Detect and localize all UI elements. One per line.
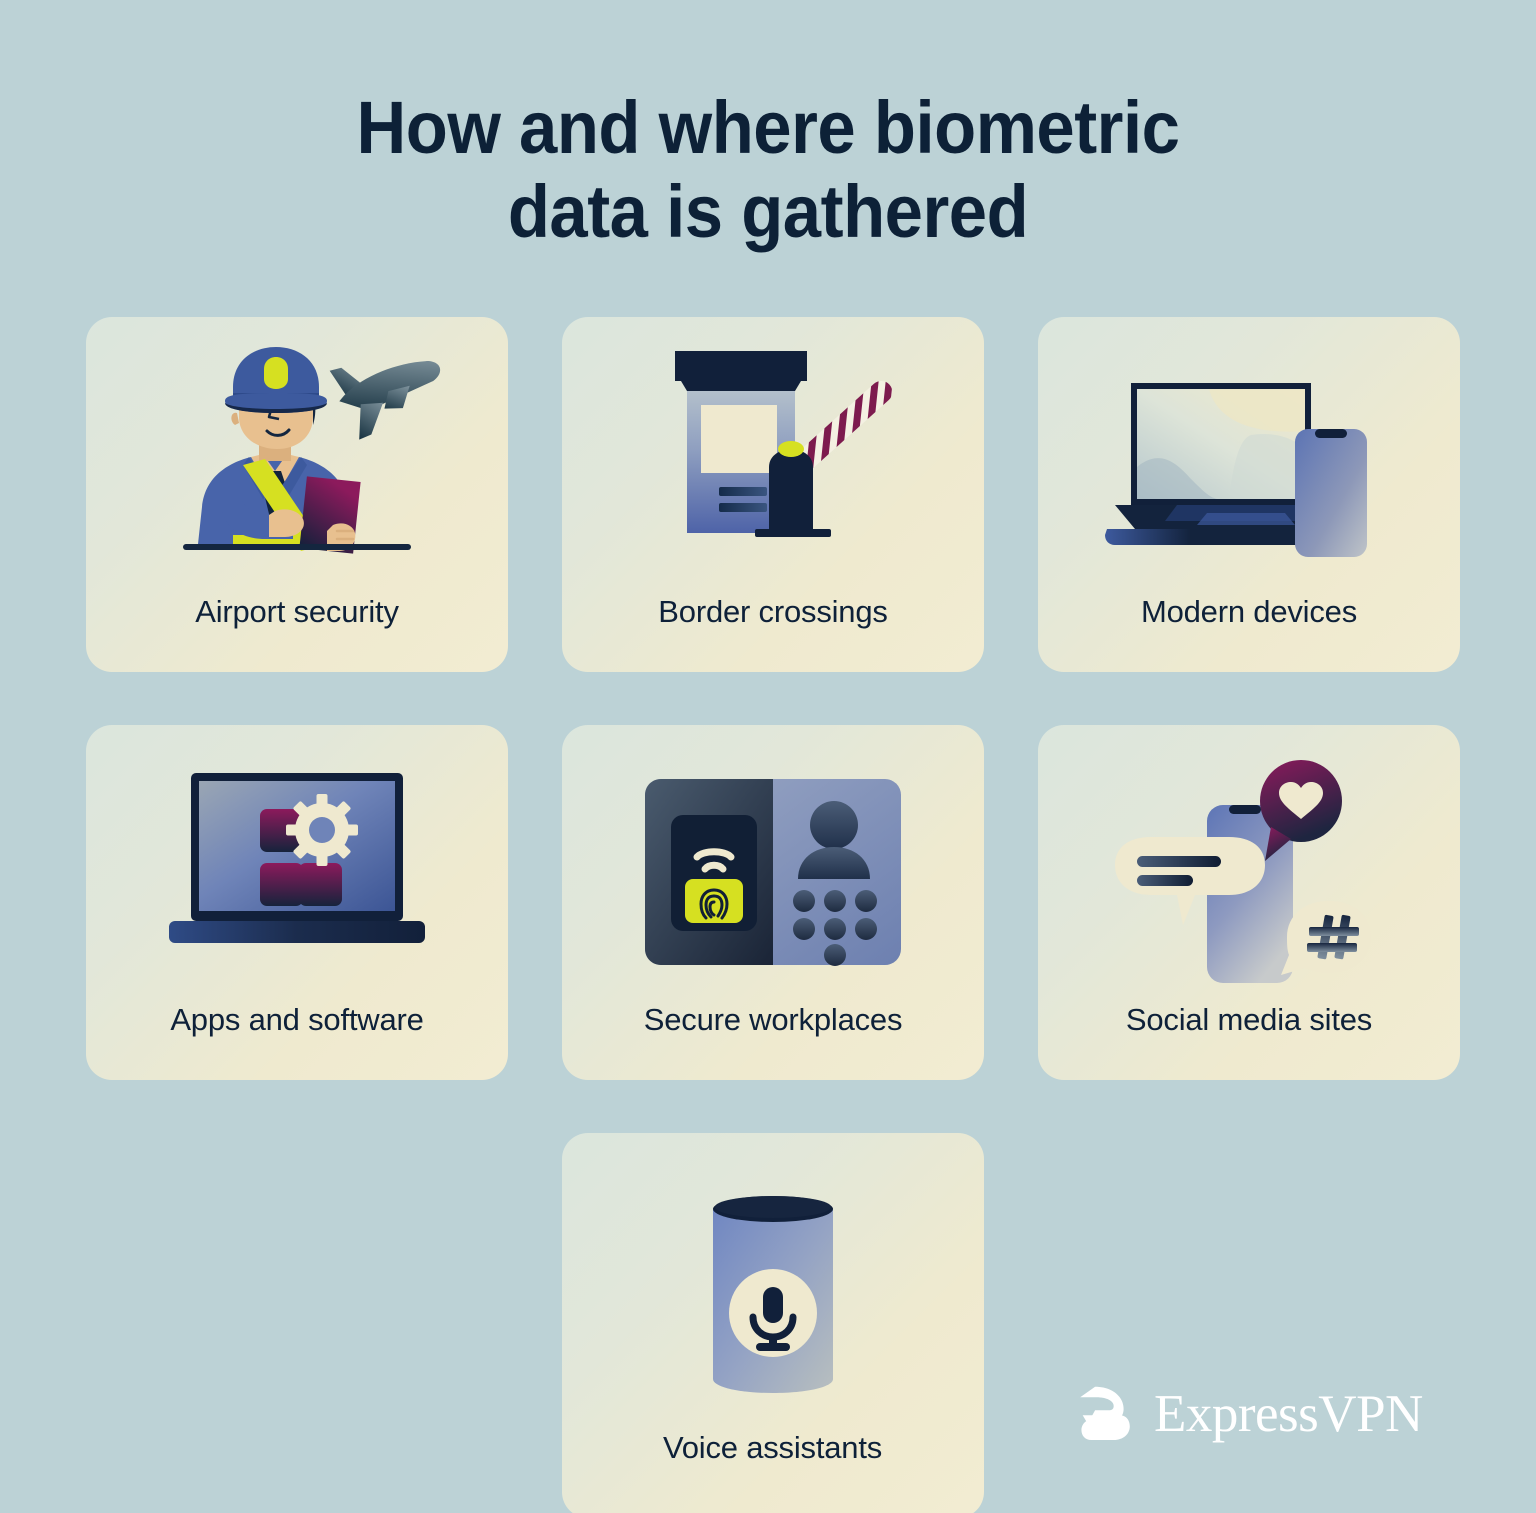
- cards-grid: Airport security: [86, 317, 1459, 1513]
- cards-row-1: Airport security: [86, 317, 1459, 672]
- card-secure-workplaces[interactable]: Secure workplaces: [562, 725, 984, 1080]
- smart-speaker-microphone-icon: [562, 1173, 984, 1423]
- cards-row-2: Apps and software: [86, 725, 1459, 1080]
- card-label: Secure workplaces: [562, 1002, 984, 1038]
- expressvpn-wordmark: ExpressVPN: [1154, 1388, 1423, 1441]
- card-label: Voice assistants: [562, 1430, 984, 1466]
- fingerprint-access-panel-icon: [562, 747, 984, 997]
- card-border-crossings[interactable]: Border crossings: [562, 317, 984, 672]
- card-apps-and-software[interactable]: Apps and software: [86, 725, 508, 1080]
- cards-row-3: Voice assistants: [86, 1133, 1459, 1513]
- infographic-page: How and where biometric data is gathered: [0, 0, 1536, 1513]
- laptop-smartphone-icon: [1038, 339, 1460, 589]
- expressvpn-e-logo-icon: [1074, 1383, 1136, 1445]
- page-title-line-2: data is gathered: [54, 170, 1482, 254]
- police-officer-airplane-icon: [86, 339, 508, 589]
- card-label: Border crossings: [562, 594, 984, 630]
- border-booth-barrier-icon: [562, 339, 984, 589]
- card-modern-devices[interactable]: Modern devices: [1038, 317, 1460, 672]
- expressvpn-logo[interactable]: ExpressVPN: [1074, 1383, 1423, 1445]
- card-voice-assistants[interactable]: Voice assistants: [562, 1133, 984, 1513]
- page-title: How and where biometric data is gathered: [54, 86, 1482, 254]
- card-label: Apps and software: [86, 1002, 508, 1038]
- card-label: Social media sites: [1038, 1002, 1460, 1038]
- page-title-line-1: How and where biometric: [54, 86, 1482, 170]
- card-label: Modern devices: [1038, 594, 1460, 630]
- card-airport-security[interactable]: Airport security: [86, 317, 508, 672]
- phone-chat-heart-hashtag-icon: [1038, 747, 1460, 997]
- card-social-media-sites[interactable]: Social media sites: [1038, 725, 1460, 1080]
- card-label: Airport security: [86, 594, 508, 630]
- laptop-apps-gear-icon: [86, 747, 508, 997]
